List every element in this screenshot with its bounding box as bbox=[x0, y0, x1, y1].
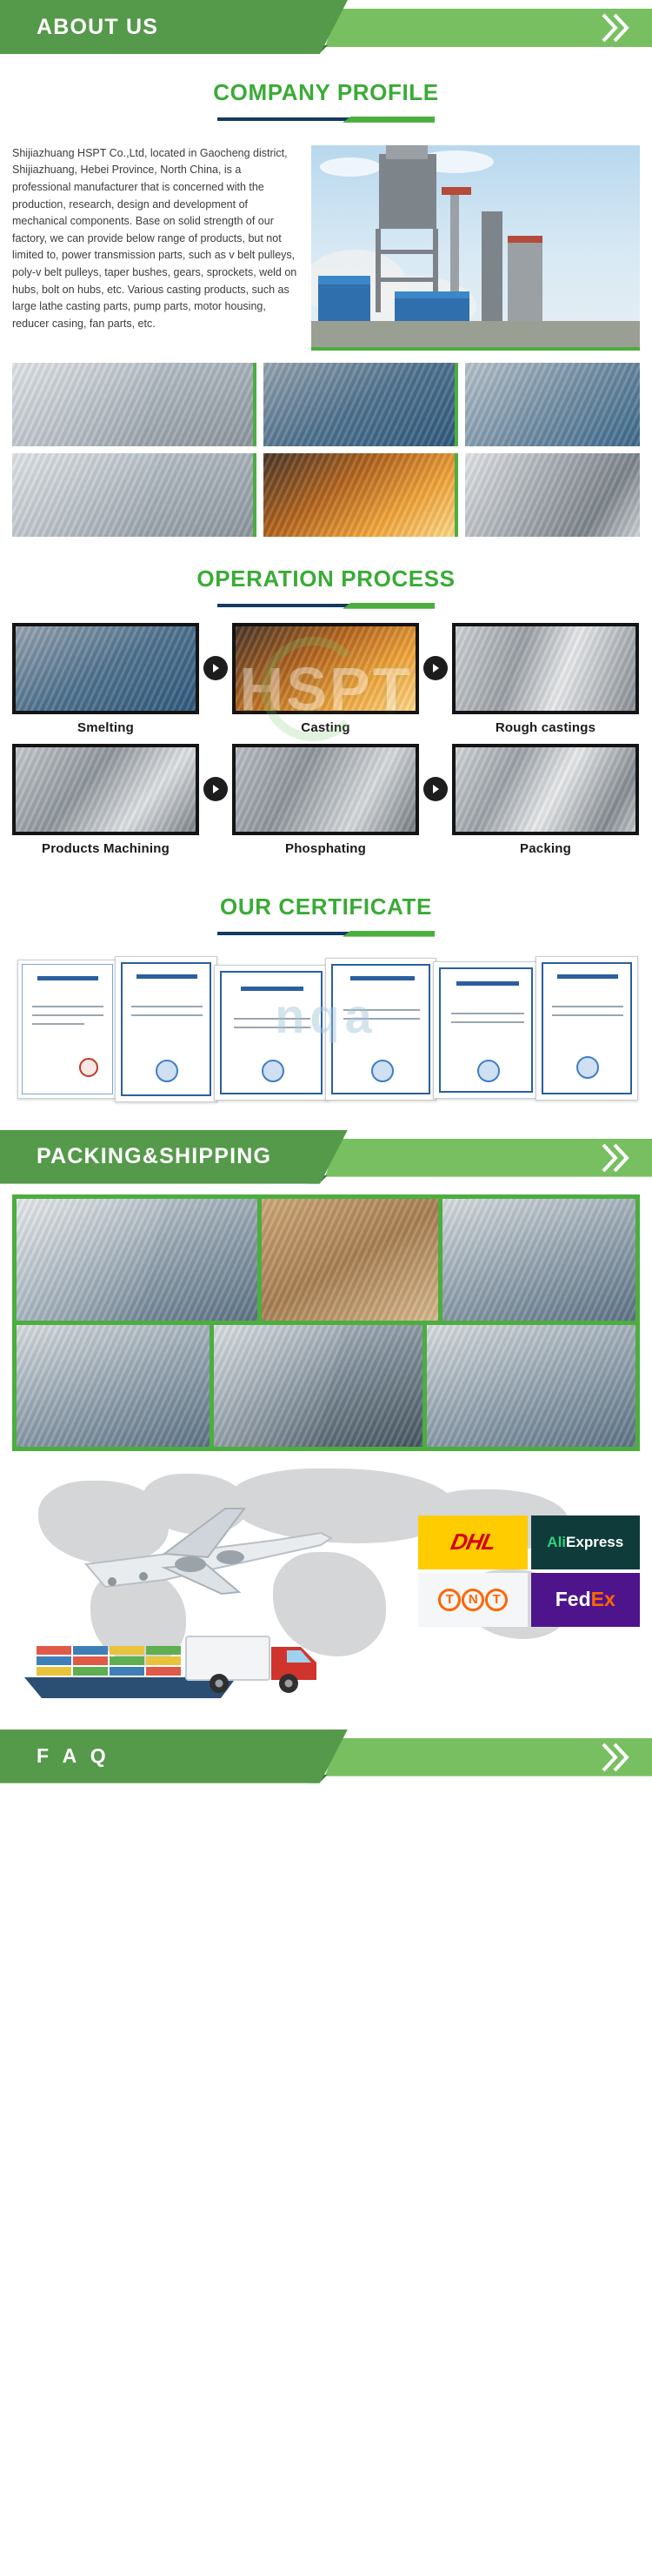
section-heading-operation-process: OPERATION PROCESS bbox=[0, 544, 652, 616]
banner-dark-block: F A Q bbox=[0, 1730, 348, 1783]
company-profile-block: Shijiazhuang HSPT Co.,Ltd, located in Ga… bbox=[0, 130, 652, 354]
process-image-packing bbox=[452, 744, 639, 835]
company-profile-paragraph: Shijiazhuang HSPT Co.,Ltd, located in Ga… bbox=[12, 145, 299, 333]
logo-tnt[interactable]: T N T bbox=[418, 1573, 528, 1627]
logistics-partner-logos: DHL AliExpress T N T FedEx bbox=[418, 1515, 640, 1627]
gallery-photo-workshop-1 bbox=[12, 363, 256, 446]
certificate-gallery: nqa bbox=[0, 944, 652, 1121]
operation-process-grid: Smelting Casting Rough castings bbox=[0, 616, 652, 872]
process-arrow-2 bbox=[419, 623, 452, 714]
fedex-part-a: Fed bbox=[556, 1588, 591, 1610]
banner-dark-block: PACKING&SHIPPING bbox=[0, 1130, 348, 1184]
company-hero-photo bbox=[311, 145, 640, 351]
arrow-right-icon bbox=[423, 777, 448, 801]
process-label: Casting bbox=[232, 714, 419, 735]
chevron-right-icon bbox=[600, 1142, 629, 1174]
tnt-letter: T bbox=[438, 1589, 461, 1611]
section-title: OUR CERTIFICATE bbox=[0, 894, 652, 920]
process-image-products-machining bbox=[12, 744, 199, 835]
gallery-photo-workshop-2 bbox=[263, 363, 458, 446]
tnt-wordmark: T N T bbox=[438, 1589, 508, 1611]
process-image-rough-castings bbox=[452, 623, 639, 714]
process-row-1: Smelting Casting Rough castings bbox=[12, 623, 640, 735]
certificate-5 bbox=[433, 961, 539, 1099]
certificate-4 bbox=[325, 958, 436, 1101]
process-image-phosphating bbox=[232, 744, 419, 835]
arrow-right-icon bbox=[203, 777, 228, 801]
packing-photo-wooden-crates bbox=[262, 1199, 438, 1321]
underline-green-part bbox=[343, 931, 435, 937]
underline-navy-part bbox=[217, 117, 349, 121]
packing-photo-container-inside bbox=[17, 1325, 210, 1447]
fedex-part-b: Ex bbox=[591, 1588, 615, 1610]
gallery-photo-workshop-3 bbox=[465, 363, 640, 446]
certificate-band: nqa bbox=[12, 954, 640, 1111]
section-heading-our-certificate: OUR CERTIFICATE bbox=[0, 872, 652, 944]
process-step-rough-castings: Rough castings bbox=[452, 623, 639, 735]
chevron-right-icon bbox=[600, 1742, 629, 1773]
packing-gallery bbox=[0, 1188, 652, 1456]
process-label: Products Machining bbox=[12, 835, 199, 856]
process-label: Rough castings bbox=[452, 714, 639, 735]
airplane-graphic bbox=[60, 1489, 347, 1611]
process-label: Smelting bbox=[12, 714, 199, 735]
banner-title: F A Q bbox=[0, 1744, 110, 1768]
dhl-wordmark: DHL bbox=[448, 1529, 497, 1556]
packing-row-2 bbox=[17, 1325, 635, 1447]
delivery-truck-graphic bbox=[177, 1617, 338, 1704]
gallery-photo-workshop-4 bbox=[12, 453, 256, 537]
certificate-2 bbox=[115, 956, 217, 1102]
logo-aliexpress[interactable]: AliExpress bbox=[531, 1515, 641, 1569]
banner-packing-shipping: PACKING&SHIPPING bbox=[0, 1130, 652, 1184]
about-us-page: ABOUT US COMPANY PROFILE Shijiazhuang HS… bbox=[0, 0, 652, 1787]
banner-title: ABOUT US bbox=[0, 15, 158, 40]
logo-fedex[interactable]: FedEx bbox=[531, 1573, 641, 1627]
logo-dhl[interactable]: DHL bbox=[418, 1515, 528, 1569]
gallery-row bbox=[12, 363, 640, 446]
gallery-row bbox=[12, 453, 640, 537]
heading-underline bbox=[217, 603, 435, 609]
aliexpress-part-a: Ali bbox=[547, 1534, 566, 1550]
arrow-right-icon bbox=[203, 656, 228, 680]
heading-underline bbox=[217, 117, 435, 123]
banner-faq: F A Q bbox=[0, 1730, 652, 1783]
company-profile-text: Shijiazhuang HSPT Co.,Ltd, located in Ga… bbox=[12, 145, 299, 351]
process-arrow-3 bbox=[199, 744, 232, 835]
process-step-phosphating: Phosphating bbox=[232, 744, 419, 856]
aliexpress-wordmark: AliExpress bbox=[547, 1534, 623, 1551]
certificate-3 bbox=[214, 965, 329, 1101]
underline-navy-part bbox=[217, 604, 349, 607]
aliexpress-part-b: Express bbox=[566, 1534, 623, 1550]
process-arrow-4 bbox=[419, 744, 452, 835]
packing-photo-workers-loading bbox=[442, 1199, 635, 1321]
process-step-packing: Packing bbox=[452, 744, 639, 856]
process-arrow-1 bbox=[199, 623, 232, 714]
process-step-smelting: Smelting bbox=[12, 623, 199, 735]
underline-green-part bbox=[343, 117, 435, 123]
chevron-right-icon bbox=[600, 12, 629, 43]
factory-gallery: HSPT bbox=[0, 354, 652, 537]
section-title: COMPANY PROFILE bbox=[0, 80, 652, 106]
arrow-right-icon bbox=[423, 656, 448, 680]
logistics-world-section: DHL AliExpress T N T FedEx bbox=[12, 1465, 640, 1717]
underline-navy-part bbox=[217, 932, 349, 935]
packing-row-1 bbox=[17, 1199, 635, 1321]
process-label: Packing bbox=[452, 835, 639, 856]
process-row-2: Products Machining Phosphating Packing bbox=[12, 744, 640, 856]
fedex-wordmark: FedEx bbox=[556, 1588, 615, 1611]
process-image-smelting bbox=[12, 623, 199, 714]
packing-photo-truck bbox=[214, 1325, 422, 1447]
banner-about-us: ABOUT US bbox=[0, 0, 652, 54]
section-title: OPERATION PROCESS bbox=[0, 566, 652, 592]
banner-dark-block: ABOUT US bbox=[0, 0, 348, 54]
banner-title: PACKING&SHIPPING bbox=[0, 1144, 271, 1169]
tnt-letter: N bbox=[462, 1589, 484, 1611]
packing-photo-container-loading bbox=[17, 1199, 257, 1321]
section-heading-company-profile: COMPANY PROFILE bbox=[0, 57, 652, 130]
packing-photo-secured-cargo bbox=[427, 1325, 635, 1447]
packing-grid bbox=[12, 1194, 640, 1451]
factory-illustration bbox=[311, 145, 640, 347]
process-step-casting: Casting bbox=[232, 623, 419, 735]
certificate-1 bbox=[17, 960, 117, 1099]
process-image-casting bbox=[232, 623, 419, 714]
heading-underline bbox=[217, 931, 435, 937]
gallery-photo-materials bbox=[465, 453, 640, 537]
certificate-6 bbox=[536, 956, 638, 1101]
tnt-letter: T bbox=[485, 1589, 508, 1611]
process-step-products-machining: Products Machining bbox=[12, 744, 199, 856]
process-label: Phosphating bbox=[232, 835, 419, 856]
gallery-photo-molten-metal bbox=[263, 453, 458, 537]
underline-green-part bbox=[343, 603, 435, 609]
